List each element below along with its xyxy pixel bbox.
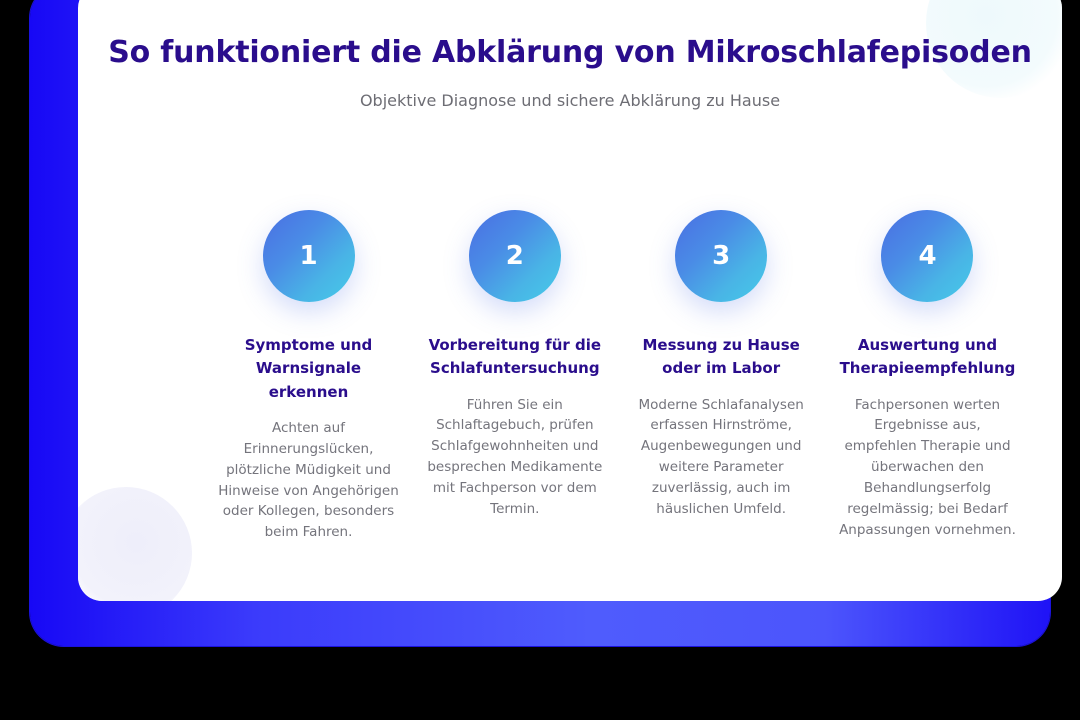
step-title-2: Vorbereitung für die Schlafuntersuchung [424,334,605,381]
step-circle-2: 2 [469,210,561,302]
step-description-4: Fachpersonen werten Ergebnisse aus, empf… [837,395,1018,541]
step-circle-1: 1 [263,210,355,302]
step-item-3: 3 Messung zu Hause oder im Labor Moderne… [631,210,812,520]
step-title-3: Messung zu Hause oder im Labor [631,334,812,381]
step-description-1: Achten auf Erinnerungslücken, plötzliche… [218,418,399,544]
step-title-4: Auswertung und Therapieempfehlung [837,334,1018,381]
step-description-3: Moderne Schlafanalysen erfassen Hirnströ… [631,395,812,521]
device-frame: So funktioniert die Abklärung von Mikros… [30,0,1050,646]
step-circle-3: 3 [675,210,767,302]
step-number-2: 2 [506,243,524,269]
header: So funktioniert die Abklärung von Mikros… [78,0,1062,110]
steps-row: 1 Symptome und Warnsignale erkennen Acht… [218,210,1018,543]
step-item-1: 1 Symptome und Warnsignale erkennen Acht… [218,210,399,543]
step-description-2: Führen Sie ein Schlaftagebuch, prüfen Sc… [424,395,605,521]
step-item-4: 4 Auswertung und Therapieempfehlung Fach… [837,210,1018,541]
step-title-1: Symptome und Warnsignale erkennen [218,334,399,404]
content-card: So funktioniert die Abklärung von Mikros… [78,0,1062,601]
page-subtitle: Objektive Diagnose und sichere Abklärung… [78,91,1062,110]
step-number-1: 1 [299,243,317,269]
decorative-circle-bottom-left [78,487,192,601]
page-title: So funktioniert die Abklärung von Mikros… [78,36,1062,71]
step-item-2: 2 Vorbereitung für die Schlafuntersuchun… [424,210,605,520]
step-number-4: 4 [918,243,936,269]
step-circle-4: 4 [881,210,973,302]
step-number-3: 3 [712,243,730,269]
